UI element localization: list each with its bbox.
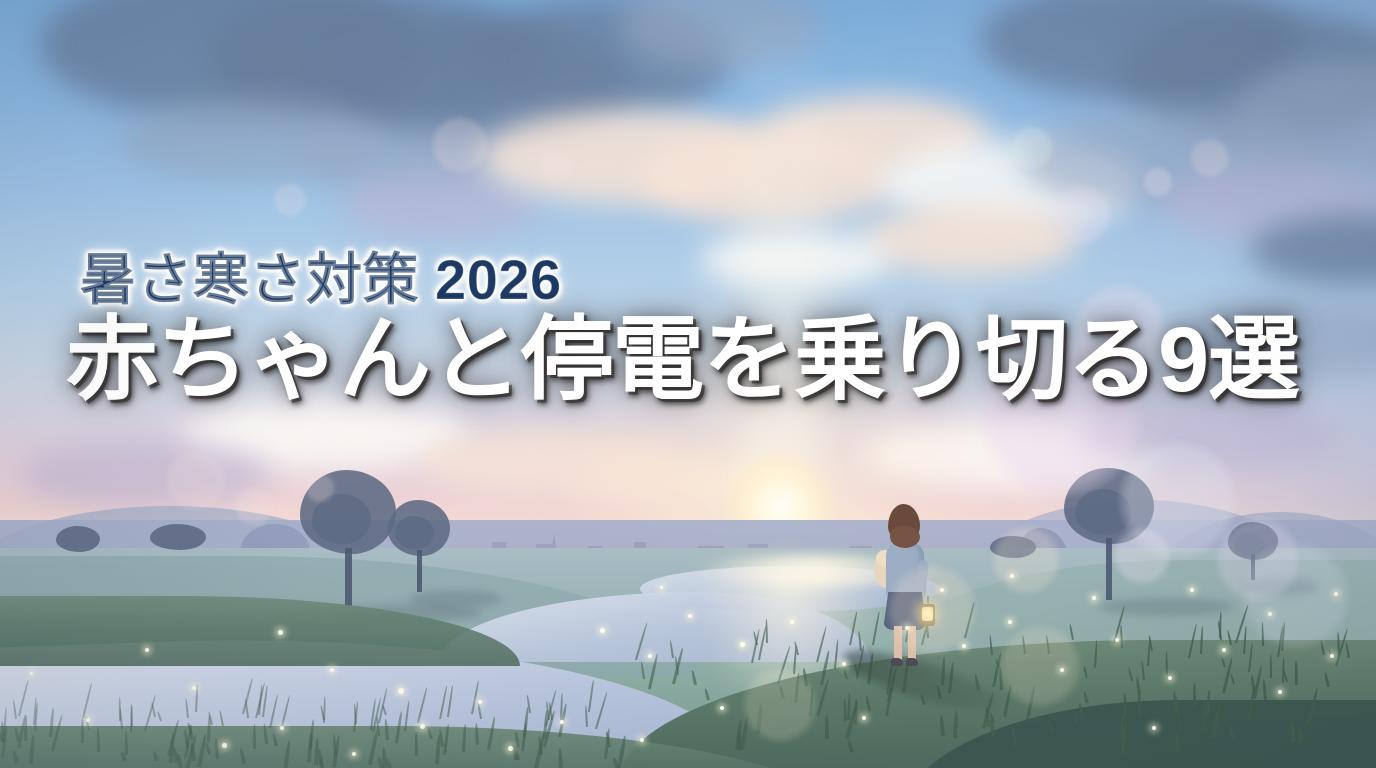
- headline-text: 赤ちゃんと停電を乗り切る9選: [66, 314, 1326, 408]
- tree-canopy-lower: [1075, 489, 1131, 535]
- tree-trunk: [417, 550, 422, 592]
- firefly-0: [278, 630, 283, 635]
- firefly-9: [508, 746, 513, 751]
- firefly-12: [648, 654, 652, 658]
- title-block: 暑さ寒さ対策 2026 赤ちゃんと停電を乗り切る9選: [66, 252, 1326, 408]
- tree-1: [388, 500, 450, 598]
- grass-blade: [1269, 654, 1272, 678]
- firefly-32: [1334, 592, 1338, 596]
- grass-blade: [1261, 622, 1263, 646]
- firefly-28: [1190, 588, 1194, 592]
- tree-trunk: [1106, 538, 1112, 600]
- firefly-23: [1222, 648, 1226, 652]
- firefly-27: [1092, 596, 1096, 600]
- firefly-19: [1008, 620, 1012, 624]
- tree-canopy-lower: [395, 516, 433, 550]
- firefly-30: [660, 586, 663, 589]
- woman-with-baby-figure: [866, 500, 946, 670]
- kicker-text: 暑さ寒さ対策 2026: [80, 252, 1326, 308]
- tree-4: [56, 526, 100, 552]
- tree-3: [1228, 522, 1278, 586]
- figure-leg-left: [894, 626, 902, 660]
- firefly-26: [1010, 574, 1014, 578]
- firefly-4: [222, 743, 227, 748]
- firefly-5: [280, 726, 284, 730]
- firefly-24: [1278, 690, 1282, 694]
- firefly-35: [30, 672, 33, 675]
- firefly-8: [478, 700, 482, 704]
- tree-trunk: [345, 548, 352, 606]
- grass-blade: [24, 715, 27, 741]
- firefly-29: [1268, 612, 1272, 616]
- firefly-14: [740, 642, 745, 647]
- firefly-16: [842, 662, 846, 666]
- firefly-7: [420, 724, 425, 729]
- firefly-39: [1152, 726, 1156, 730]
- tree-canopy-lower: [1234, 533, 1265, 556]
- firefly-36: [640, 738, 644, 742]
- firefly-3: [145, 648, 149, 652]
- firefly-13: [688, 614, 692, 618]
- figure-shoe-left: [891, 658, 903, 666]
- figure-hair-back: [890, 526, 920, 548]
- firefly-33: [192, 686, 196, 690]
- tree-canopy: [56, 526, 100, 552]
- tree-canopy-lower: [312, 494, 372, 544]
- firefly-2: [398, 688, 404, 694]
- firefly-20: [1060, 668, 1064, 672]
- firefly-6: [352, 752, 356, 756]
- tree-0: [300, 470, 396, 612]
- lantern-flame: [922, 607, 933, 621]
- figure-leg-right: [908, 626, 916, 660]
- firefly-22: [1168, 676, 1172, 680]
- tree-2: [1064, 468, 1154, 606]
- tree-trunk: [1251, 554, 1255, 580]
- firefly-10: [560, 720, 564, 724]
- grass-blade: [1120, 714, 1124, 739]
- firefly-34: [86, 718, 90, 722]
- firefly-18: [962, 644, 966, 648]
- tree-6: [990, 536, 1036, 558]
- firefly-37: [720, 706, 724, 710]
- firefly-15: [790, 620, 794, 624]
- firefly-25: [1330, 654, 1334, 658]
- firefly-21: [1115, 638, 1119, 642]
- firefly-17: [905, 626, 909, 630]
- firefly-1: [330, 668, 334, 672]
- tree-5: [150, 524, 206, 550]
- firefly-11: [600, 628, 605, 633]
- tree-canopy: [990, 536, 1036, 558]
- figure-shoe-right: [906, 658, 918, 666]
- tree-canopy: [150, 524, 206, 550]
- hero-thumbnail: 暑さ寒さ対策 2026 赤ちゃんと停電を乗り切る9選: [0, 0, 1376, 768]
- firefly-31: [940, 588, 944, 592]
- firefly-38: [862, 716, 866, 720]
